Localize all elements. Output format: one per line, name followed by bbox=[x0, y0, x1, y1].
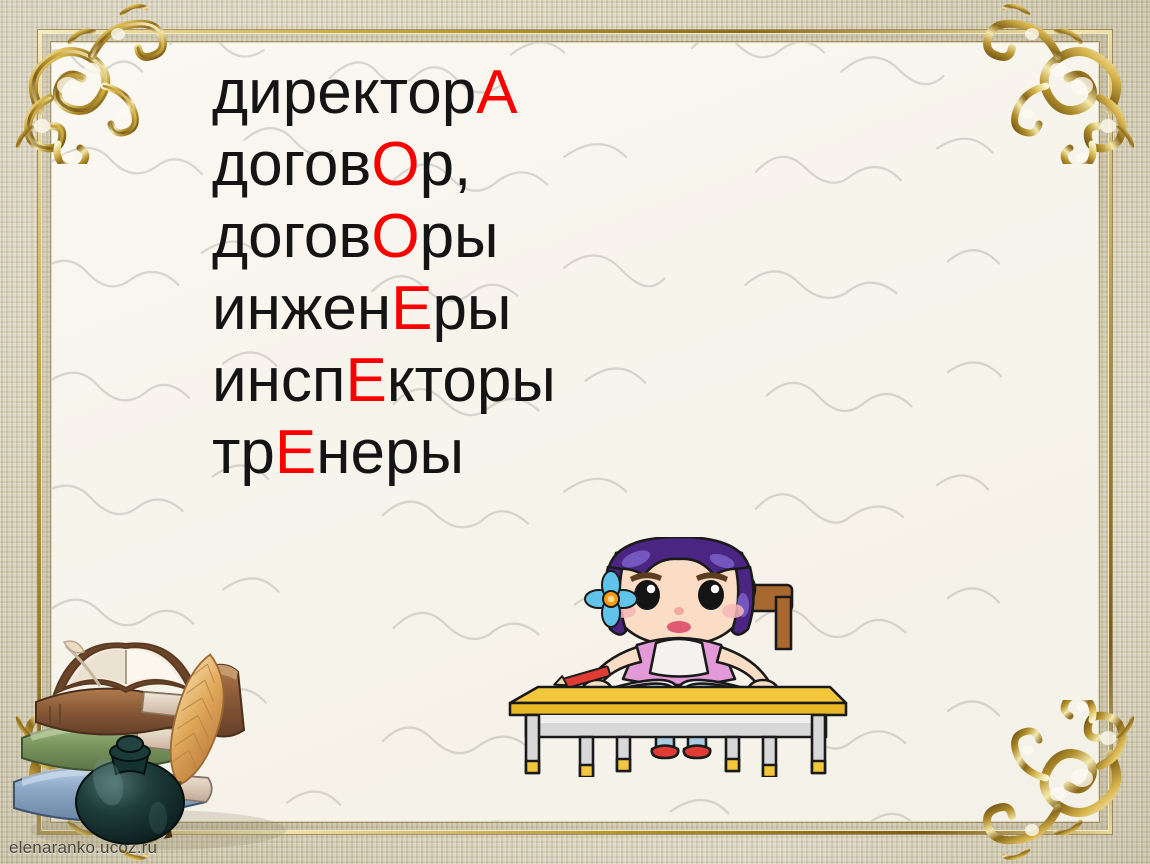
word-line-trenery: трЕнеры bbox=[212, 417, 832, 489]
word-suffix: ры bbox=[420, 202, 499, 271]
stressed-vowel: Е bbox=[275, 418, 316, 487]
slide-canvas: директорА договОр, договОры инженЕры инс… bbox=[0, 0, 1150, 864]
word-prefix: директор bbox=[212, 58, 476, 127]
word-suffix: р, bbox=[420, 130, 472, 199]
word-list: директорА договОр, договОры инженЕры инс… bbox=[212, 57, 832, 489]
word-suffix: кторы bbox=[387, 346, 556, 415]
stressed-vowel: Е bbox=[345, 346, 386, 415]
word-prefix: инжен bbox=[212, 274, 391, 343]
paper-surface: директорА договОр, договОры инженЕры инс… bbox=[52, 43, 1098, 821]
word-line-inspektory: инспЕкторы bbox=[212, 345, 832, 417]
girl-at-desk-illustration bbox=[504, 537, 854, 777]
word-prefix: инсп bbox=[212, 346, 345, 415]
word-line-dogovory: договОры bbox=[212, 201, 832, 273]
word-suffix: ры bbox=[432, 274, 511, 343]
stressed-vowel: Е bbox=[391, 274, 432, 343]
word-prefix: догов bbox=[212, 202, 371, 271]
stressed-vowel: О bbox=[371, 130, 419, 199]
stressed-vowel: А bbox=[476, 58, 517, 127]
stressed-vowel: О bbox=[371, 202, 419, 271]
word-line-direktora: директорА bbox=[212, 57, 832, 129]
watermark-text: elenaranko.ucoz.ru bbox=[9, 838, 157, 858]
word-suffix: неры bbox=[316, 418, 464, 487]
word-prefix: догов bbox=[212, 130, 371, 199]
word-line-inzhenery: инженЕры bbox=[212, 273, 832, 345]
word-prefix: тр bbox=[212, 418, 275, 487]
word-line-dogovor: договОр, bbox=[212, 129, 832, 201]
